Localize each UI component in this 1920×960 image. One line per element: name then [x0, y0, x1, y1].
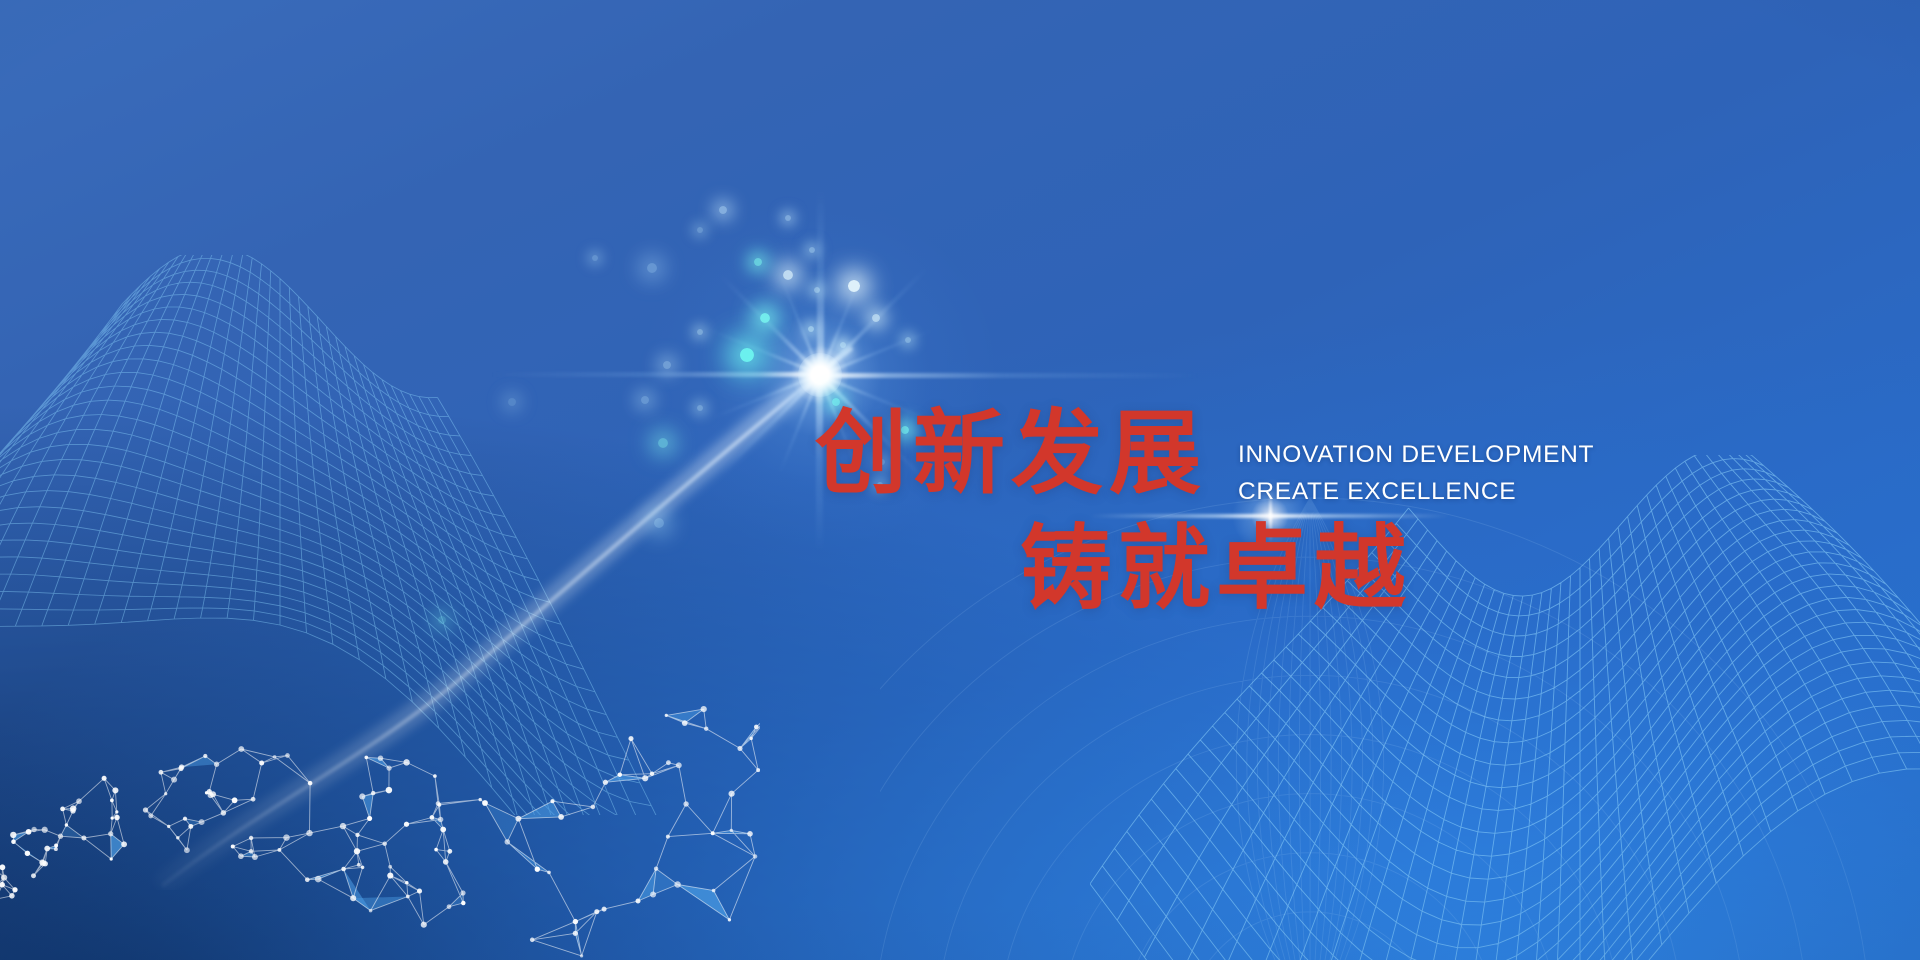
- banner-canvas: 创新发展 铸就卓越 INNOVATION DEVELOPMENT CREATE …: [0, 0, 1920, 960]
- headline-chinese-line-2: 铸就卓越: [1020, 523, 1412, 615]
- headline-english-line-2: CREATE EXCELLENCE: [1238, 480, 1516, 505]
- headline-block: 创新发展 铸就卓越 INNOVATION DEVELOPMENT CREATE …: [0, 0, 1920, 960]
- headline-english-line-1: INNOVATION DEVELOPMENT: [1238, 443, 1594, 468]
- headline-chinese-line-1: 创新发展: [815, 408, 1207, 500]
